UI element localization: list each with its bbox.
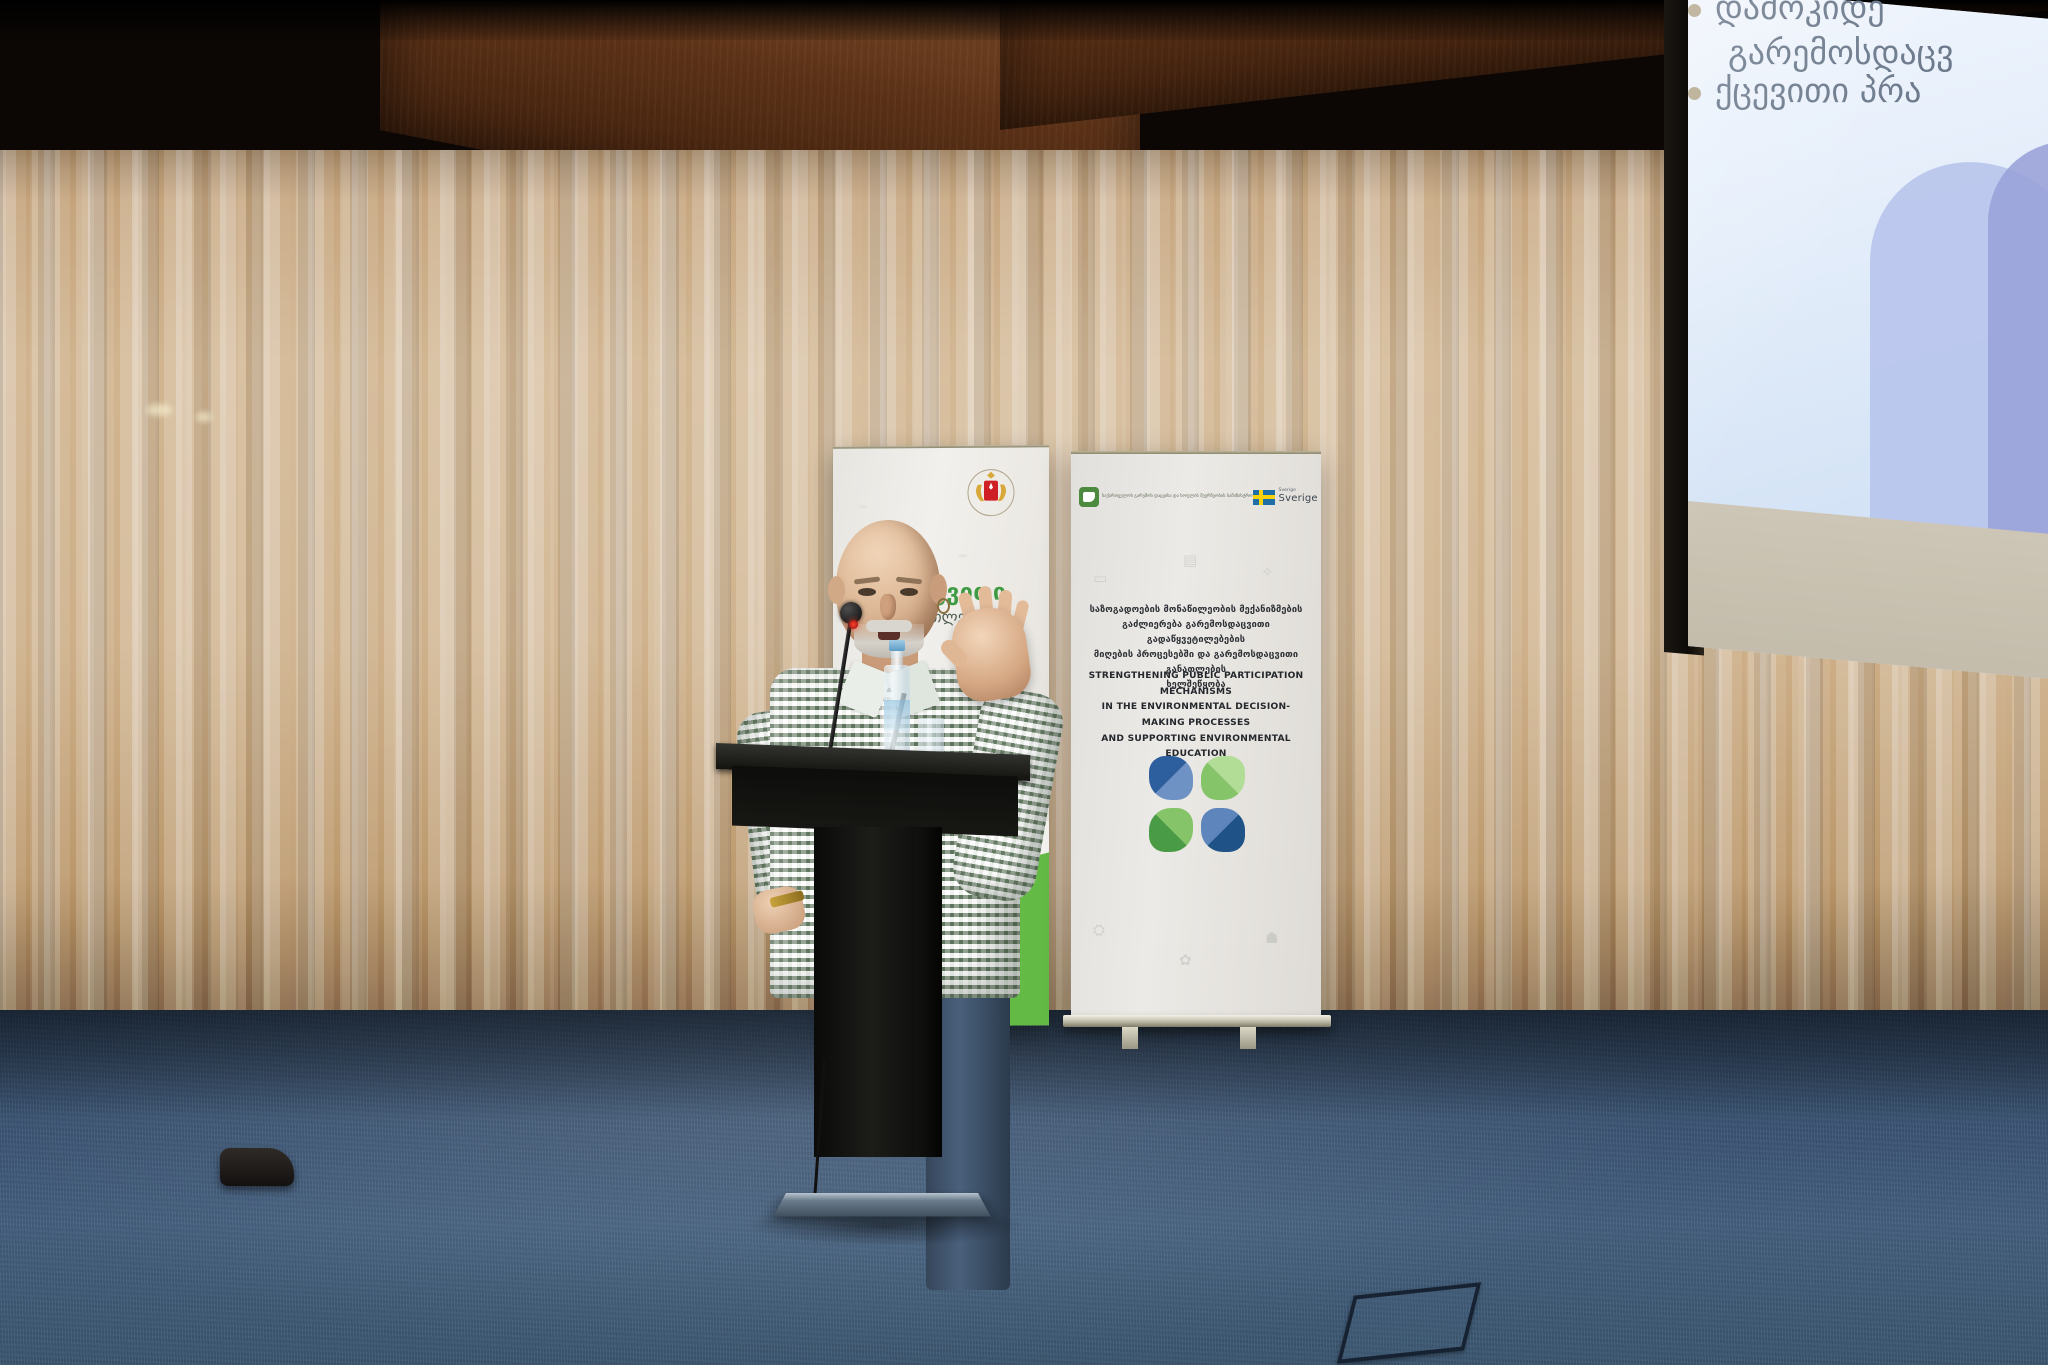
banner-english-title: STRENGTHENING PUBLIC PARTICIPATION MECHA… xyxy=(1081,669,1311,763)
projection-screen: დამოკიდე გარემოსდაცვ ქცევითი პრა xyxy=(1664,0,2048,652)
document-icon: ▤ xyxy=(1183,551,1197,569)
banner-en-line: IN THE ENVIRONMENTAL DECISION-MAKING PRO… xyxy=(1081,700,1311,731)
curtain-highlight xyxy=(196,412,212,422)
ministry-logo: საქართველოს გარემოს დაცვისა და სოფლის მე… xyxy=(1079,487,1253,507)
sweden-logo: Sverige Sverige xyxy=(1253,489,1318,504)
sparkle-megaphone-icon: ✧ xyxy=(1261,563,1274,581)
speaker-eye-left xyxy=(858,588,876,596)
earring-icon xyxy=(937,598,950,614)
podium-front-panel xyxy=(732,766,1018,837)
ministry-logo-mark xyxy=(1079,487,1099,507)
microphone-led-indicator xyxy=(849,620,858,629)
slide-text-block: დამოკიდე გარემოსდაცვ ქცევითი პრა xyxy=(1688,0,2048,116)
podium-base-plinth xyxy=(773,1193,991,1216)
slide-bullet-row: დამოკიდე xyxy=(1688,0,2048,29)
factory-icon: ⛭ xyxy=(1093,921,1105,939)
emblem-petal-bottom-left xyxy=(1149,808,1193,852)
sweden-flag-icon xyxy=(1253,490,1275,505)
podium xyxy=(716,749,1030,1159)
speaker-shoe xyxy=(220,1148,294,1186)
emblem-petal-top-right xyxy=(1201,756,1245,800)
podium-column-side xyxy=(916,827,942,1157)
speaker-mustache xyxy=(866,620,912,632)
slide-continuation-text: გარემოსდაცვ xyxy=(1728,33,2048,74)
slide-bullet-text: ქცევითი პრა xyxy=(1715,71,1921,112)
bullet-dot-icon xyxy=(1688,87,1701,100)
emblem-petal-bottom-right xyxy=(1201,808,1245,852)
conference-room-photo: დამოკიდე გარემოსდაცვ ქცევითი პრა ემოსდაც… xyxy=(0,0,2048,1365)
bottle-label xyxy=(884,700,910,730)
banner-project: საქართველოს გარემოს დაცვისა და სოფლის მე… xyxy=(1071,451,1321,1021)
bullet-dot-icon xyxy=(1688,4,1701,17)
presenter-icon: ☗ xyxy=(1265,929,1278,947)
speaker-nose xyxy=(880,594,896,620)
four-petal-emblem xyxy=(1149,756,1245,852)
slide-arch-shape xyxy=(1988,133,2048,540)
banner-stand-foot xyxy=(1122,1027,1138,1049)
plant-icon: ✿ xyxy=(1179,951,1192,969)
slide-bullet-row: ქცევითი პრა xyxy=(1688,71,2048,112)
emblem-petal-top-left xyxy=(1149,756,1193,800)
banner-ka-line: საზოგადოების მონაწილეობის მექანიზმების xyxy=(1079,603,1313,618)
ministry-logo-text: საქართველოს გარემოს დაცვისა და სოფლის მე… xyxy=(1102,494,1253,500)
banner-stand-base xyxy=(1063,1015,1331,1027)
banner-stand-foot xyxy=(1240,1027,1256,1049)
laptop-icon: ▭ xyxy=(1093,569,1107,587)
banner-ka-line: გაძლიერება გარემოსდაცვითი გადაწყვეტილებე… xyxy=(1079,618,1313,648)
bottle-neck xyxy=(891,648,903,670)
bottle-cap xyxy=(889,640,905,651)
banner-logo-row: საქართველოს გარემოს დაცვისა და სოფლის მე… xyxy=(1071,477,1321,517)
georgia-coat-of-arms-logo xyxy=(965,467,1017,521)
banner-en-line: STRENGTHENING PUBLIC PARTICIPATION MECHA… xyxy=(1081,669,1311,700)
sweden-logo-text: Sverige xyxy=(1279,494,1318,505)
curtain-highlight xyxy=(146,404,172,416)
banner-top-rail xyxy=(1071,451,1321,454)
speaker-ear-left xyxy=(828,576,845,604)
speaker-eye-right xyxy=(900,588,918,596)
slide-bullet-text: დამოკიდე xyxy=(1715,0,1885,29)
